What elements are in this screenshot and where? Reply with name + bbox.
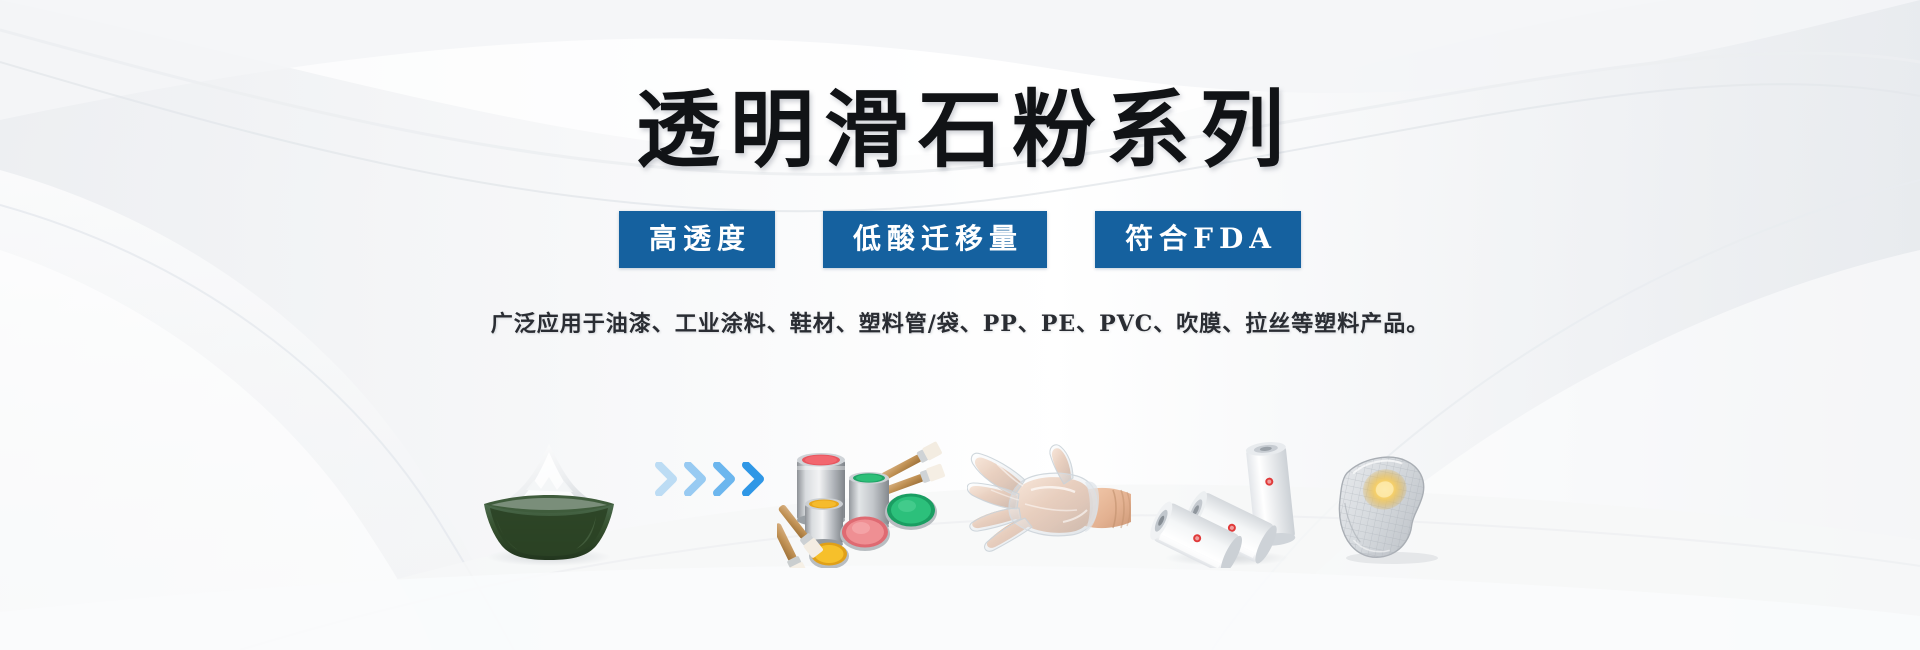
process-arrow-group <box>654 438 767 568</box>
product-image-strip <box>0 438 1920 568</box>
film-rolls-icon <box>1147 438 1307 568</box>
feature-badge-fda-compliant[interactable]: 符合FDA <box>1095 211 1301 268</box>
gloved-hand-icon <box>967 438 1137 568</box>
feature-badge-high-transparency[interactable]: 高透度 <box>619 211 775 268</box>
product-image-talc-powder-bowl <box>454 438 644 568</box>
chevron-right-icon <box>741 462 767 496</box>
application-description: 广泛应用于油漆、工业涂料、鞋材、塑料管/袋、PP、PE、PVC、吹膜、拉丝等塑料… <box>491 306 1430 338</box>
chevron-right-icon <box>654 462 680 496</box>
shoe-sole-icon <box>1317 438 1467 568</box>
product-image-gloved-hand <box>967 438 1137 568</box>
talc-powder-bowl-icon <box>454 438 644 568</box>
chevron-right-icon <box>712 462 738 496</box>
product-image-film-rolls <box>1147 438 1307 568</box>
product-image-paint-cans <box>777 438 957 568</box>
feature-badge-low-acid-migration[interactable]: 低酸迁移量 <box>823 211 1047 268</box>
chevron-right-icon <box>683 462 709 496</box>
feature-badge-list: 高透度 低酸迁移量 符合FDA <box>619 211 1301 268</box>
page-title: 透明滑石粉系列 <box>626 86 1294 173</box>
paint-cans-icon <box>777 438 957 568</box>
product-banner: 透明滑石粉系列 高透度 低酸迁移量 符合FDA 广泛应用于油漆、工业涂料、鞋材、… <box>0 0 1920 650</box>
product-image-shoe-sole <box>1317 438 1467 568</box>
